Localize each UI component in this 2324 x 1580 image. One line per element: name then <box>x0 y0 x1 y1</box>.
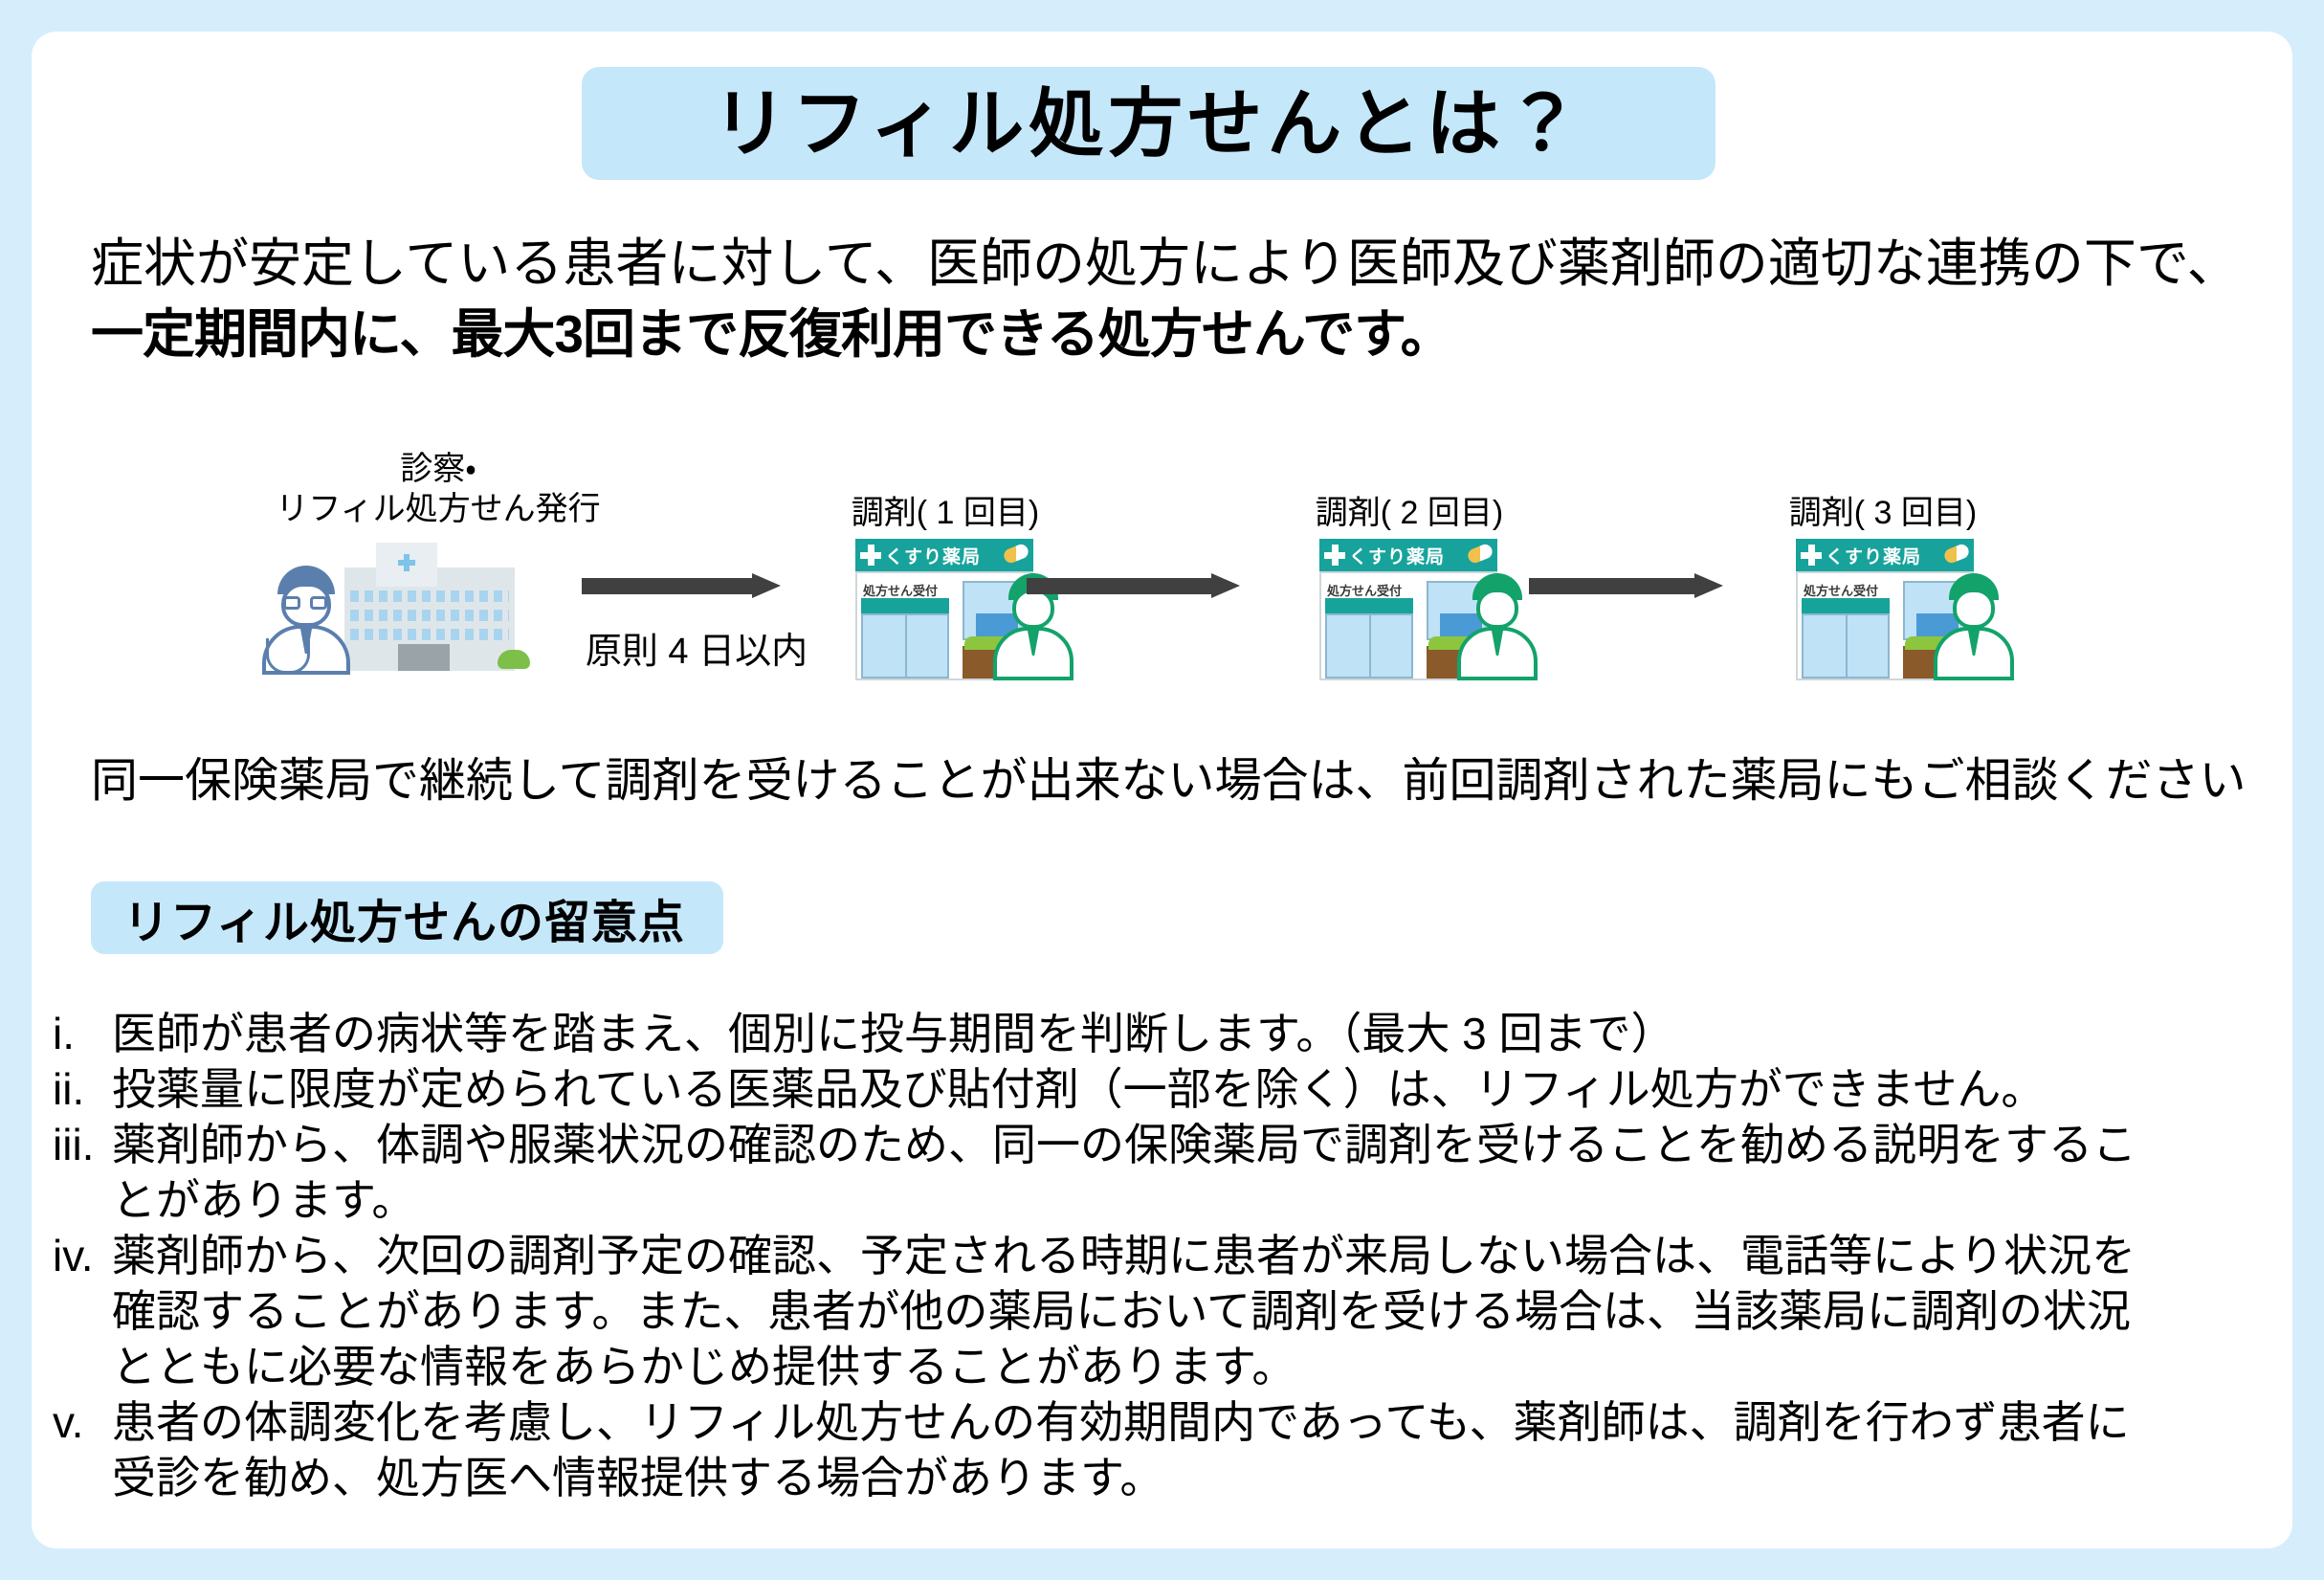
flow-arrow-icon <box>1027 573 1242 598</box>
pharmacy-door-icon <box>1325 613 1413 679</box>
note-marker: v. <box>53 1394 112 1450</box>
note-marker: iv. <box>53 1228 112 1283</box>
note-item: iii.薬剤師から、体調や服薬状況の確認のため、同一の保険薬局で調剤を受けること… <box>53 1117 2282 1228</box>
pharmacy-door-icon <box>861 613 949 679</box>
note-body: 医師が患者の病状等を踏まえ、個別に投与期間を判断します。（最大 3 回まで） <box>112 1006 2282 1061</box>
pharmacist-face-icon <box>1953 589 1995 629</box>
pharmacy-cross-icon <box>860 545 881 566</box>
pharmacist-face-icon <box>1476 589 1518 629</box>
stage-label-issue-line2: リフィル処方せん発行 <box>247 489 630 529</box>
lead-emphasis: 一定期間内に、最大3回まで反復利用できる処方せん <box>91 304 1302 364</box>
arrow-caption-days: 原則 4 日以内 <box>567 621 826 674</box>
pill-capsule-icon <box>1942 543 1971 566</box>
refill-flow-diagram: 診察・ リフィル処方せん発行 <box>32 434 2292 721</box>
note-marker: i. <box>53 1006 112 1061</box>
page-title: リフィル処方せんとは？ <box>713 86 1584 161</box>
stethoscope-icon <box>266 638 310 674</box>
arrow-shaft <box>1027 578 1213 594</box>
pharmacy-counter-bar <box>861 598 949 613</box>
hospital-window-row-icon <box>350 610 509 621</box>
bush-icon <box>498 650 530 669</box>
arrow-head <box>752 573 781 598</box>
note-line: 受診を勧め、処方医へ情報提供する場合があります。 <box>112 1450 2282 1505</box>
pharmacy-sign-label: くすり薬局 <box>1826 543 1921 568</box>
medical-cross-icon <box>398 554 415 571</box>
lead-paragraph: 症状が安定している患者に対して、医師の処方により医師及び薬剤師の適切な連携の下で… <box>91 228 2263 369</box>
pharmacy-illustration-1: くすり薬局 処方せん受付 <box>850 539 1077 680</box>
section-heading: リフィル処方せんの留意点 <box>123 884 685 951</box>
section-heading-pill: リフィル処方せんの留意点 <box>91 881 723 954</box>
doctor-glasses-icon <box>283 596 300 610</box>
note-item: ii.投薬量に限度が定められている医薬品及び貼付剤（一部を除く）は、リフィル処方… <box>53 1061 2282 1117</box>
arrow-head <box>1694 573 1723 598</box>
pharmacy-counter-bar <box>1802 598 1890 613</box>
note-line: 薬剤師から、体調や服薬状況の確認のため、同一の保険薬局で調剤を受けることを勧める… <box>112 1117 2282 1172</box>
note-item: i.医師が患者の病状等を踏まえ、個別に投与期間を判断します。（最大 3 回まで） <box>53 1006 2282 1061</box>
pharmacist-icon <box>1930 573 2018 680</box>
pharmacy-door-icon <box>1802 613 1890 679</box>
pharmacy-cross-icon <box>1801 545 1822 566</box>
hospital-window-row-icon <box>350 590 509 602</box>
pharmacy-sign: くすり薬局 <box>1319 539 1497 571</box>
pharmacy-sign-label: くすり薬局 <box>885 543 981 568</box>
note-line: 確認することがあります。また、患者が他の薬局において調剤を受ける場合は、当該薬局… <box>112 1283 2282 1339</box>
pharmacy-illustration-3: くすり薬局 処方せん受付 <box>1790 539 2018 680</box>
note-body: 薬剤師から、体調や服薬状況の確認のため、同一の保険薬局で調剤を受けることを勧める… <box>112 1117 2282 1228</box>
note-item: v.患者の体調変化を考慮し、リフィル処方せんの有効期間内であっても、薬剤師は、調… <box>53 1394 2282 1505</box>
note-line: 患者の体調変化を考慮し、リフィル処方せんの有効期間内であっても、薬剤師は、調剤を… <box>112 1394 2282 1450</box>
arrow-head <box>1211 573 1240 598</box>
stage-label-issue: 診察・ リフィル処方せん発行 <box>247 449 630 529</box>
stage-label-dispense-1: 調剤( 1 回目) <box>787 493 1103 533</box>
stage-label-dispense-2: 調剤( 2 回目) <box>1251 493 1567 533</box>
note-body: 患者の体調変化を考慮し、リフィル処方せんの有効期間内であっても、薬剤師は、調剤を… <box>112 1394 2282 1505</box>
pharmacy-counter-bar <box>1325 598 1413 613</box>
flow-arrow-icon <box>1529 573 1725 598</box>
page-title-pill: リフィル処方せんとは？ <box>582 67 1715 180</box>
page-card: リフィル処方せんとは？ 症状が安定している患者に対して、医師の処方により医師及び… <box>32 32 2292 1548</box>
note-line: 薬剤師から、次回の調剤予定の確認、予定される時期に患者が来局しない場合は、電話等… <box>112 1228 2282 1283</box>
arrow-shaft <box>582 578 754 594</box>
pharmacy-cross-icon <box>1324 545 1345 566</box>
doctor-icon <box>256 566 356 675</box>
note-body: 薬剤師から、次回の調剤予定の確認、予定される時期に患者が来局しない場合は、電話等… <box>112 1228 2282 1394</box>
note-line: 医師が患者の病状等を踏まえ、個別に投与期間を判断します。（最大 3 回まで） <box>112 1006 2282 1061</box>
pharmacy-illustration-2: くすり薬局 処方せん受付 <box>1314 539 1541 680</box>
stage-label-issue-line1: 診察・ <box>247 449 630 489</box>
pharmacy-counter-label: 処方せん受付 <box>863 581 938 599</box>
note-marker: ii. <box>53 1061 112 1117</box>
pill-capsule-icon <box>1002 543 1030 566</box>
note-line: とともに必要な情報をあらかじめ提供することがあります。 <box>112 1339 2282 1394</box>
note-marker: iii. <box>53 1117 112 1172</box>
note-line: 投薬量に限度が定められている医薬品及び貼付剤（一部を除く）は、リフィル処方ができ… <box>112 1061 2282 1117</box>
pharmacy-counter-label: 処方せん受付 <box>1327 581 1402 599</box>
pharmacy-sign: くすり薬局 <box>855 539 1033 571</box>
note-body: 投薬量に限度が定められている医薬品及び貼付剤（一部を除く）は、リフィル処方ができ… <box>112 1061 2282 1117</box>
pill-capsule-icon <box>1466 543 1494 566</box>
flow-arrow-icon <box>582 573 783 598</box>
hospital-window-row-icon <box>350 629 509 640</box>
notes-list: i.医師が患者の病状等を踏まえ、個別に投与期間を判断します。（最大 3 回まで）… <box>53 1006 2282 1505</box>
hospital-entrance-icon <box>398 644 450 671</box>
clinic-illustration <box>256 541 543 675</box>
lead-line-1: 症状が安定している患者に対して、医師の処方により医師及び薬剤師の適切な連携の下で… <box>91 228 2263 299</box>
arrow-shaft <box>1529 578 1696 594</box>
lead-line-2: 一定期間内に、最大3回まで反復利用できる処方せんです。 <box>91 299 2263 369</box>
stage-label-dispense-3: 調剤( 3 回目) <box>1725 493 2041 533</box>
doctor-glasses-icon <box>310 596 327 610</box>
pharmacy-sign-label: くすり薬局 <box>1349 543 1445 568</box>
pharmacy-sign: くすり薬局 <box>1796 539 1974 571</box>
note-line: とがあります。 <box>112 1172 2282 1228</box>
pharmacy-counter-label: 処方せん受付 <box>1804 581 1878 599</box>
diagram-note: 同一保険薬局で継続して調剤を受けることが出来ない場合は、前回調剤された薬局にもご… <box>91 751 2263 811</box>
page-title-container: リフィル処方せんとは？ <box>582 67 1715 180</box>
note-item: iv.薬剤師から、次回の調剤予定の確認、予定される時期に患者が来局しない場合は、… <box>53 1228 2282 1394</box>
lead-tail: です。 <box>1302 304 1452 364</box>
